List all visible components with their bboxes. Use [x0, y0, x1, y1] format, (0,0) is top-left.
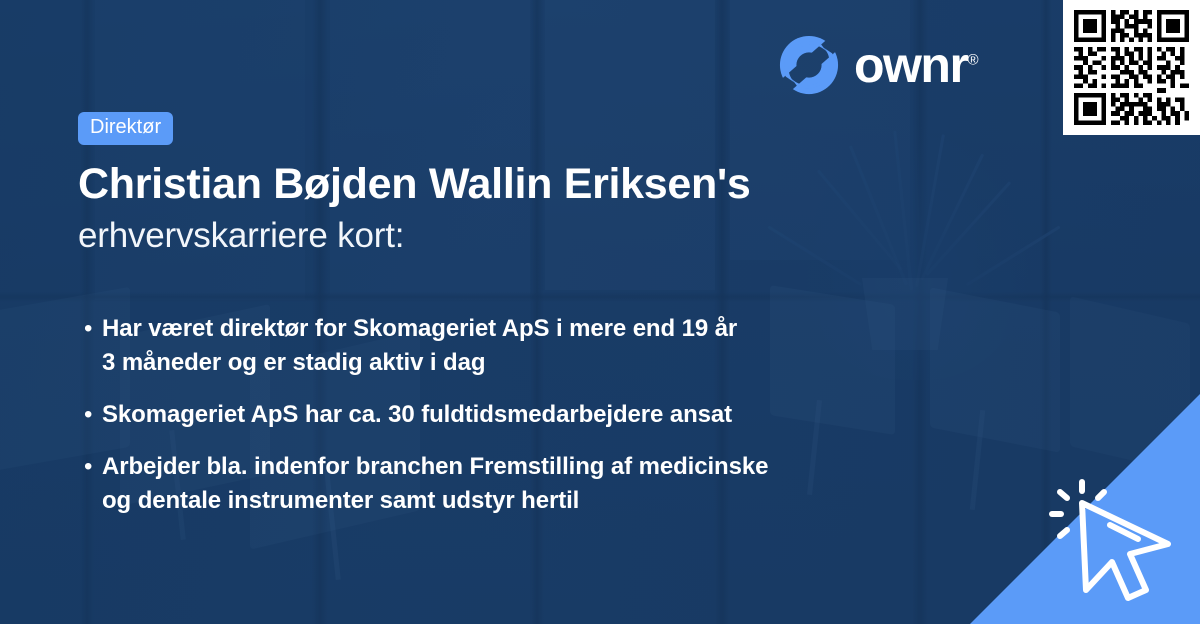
ownr-swirl-logo-icon — [778, 34, 840, 96]
list-item-line: Skomageriet ApS har ca. 30 fuldtidsmedar… — [102, 398, 732, 432]
page-title: Christian Bøjden Wallin Eriksen's — [78, 163, 878, 206]
heading-block: Direktør Christian Bøjden Wallin Eriksen… — [78, 112, 878, 255]
list-item-text: Har været direktør for Skomageriet ApS i… — [102, 312, 737, 380]
role-badge: Direktør — [78, 112, 173, 145]
qr-code[interactable] — [1074, 10, 1189, 125]
registered-trademark-icon: ® — [967, 51, 978, 68]
list-item: • Har været direktør for Skomageriet ApS… — [84, 312, 884, 380]
ownr-logo[interactable]: ownr® — [778, 34, 979, 96]
ownr-wordmark: ownr® — [854, 40, 979, 90]
bullet-dot-icon: • — [84, 312, 102, 346]
career-facts-list: • Har været direktør for Skomageriet ApS… — [84, 312, 884, 536]
click-cursor-icon — [970, 394, 1200, 624]
list-item: • Skomageriet ApS har ca. 30 fuldtidsmed… — [84, 398, 884, 432]
list-item-line: og dentale instrumenter samt udstyr hert… — [102, 484, 768, 518]
list-item-line: Arbejder bla. indenfor branchen Fremstil… — [102, 450, 768, 484]
list-item-line: Har været direktør for Skomageriet ApS i… — [102, 312, 737, 346]
list-item-line: 3 måneder og er stadig aktiv i dag — [102, 346, 737, 380]
qr-code-panel[interactable] — [1063, 0, 1200, 135]
page-subtitle: erhvervskarriere kort: — [78, 218, 878, 255]
bullet-dot-icon: • — [84, 398, 102, 432]
business-card-banner: ownr® Direktør Christian Bøjden Wallin E… — [0, 0, 1200, 624]
list-item: • Arbejder bla. indenfor branchen Fremst… — [84, 450, 884, 518]
bullet-dot-icon: • — [84, 450, 102, 484]
list-item-text: Skomageriet ApS har ca. 30 fuldtidsmedar… — [102, 398, 732, 432]
corner-accent — [970, 394, 1200, 624]
list-item-text: Arbejder bla. indenfor branchen Fremstil… — [102, 450, 768, 518]
logo-text: ownr — [854, 37, 967, 93]
